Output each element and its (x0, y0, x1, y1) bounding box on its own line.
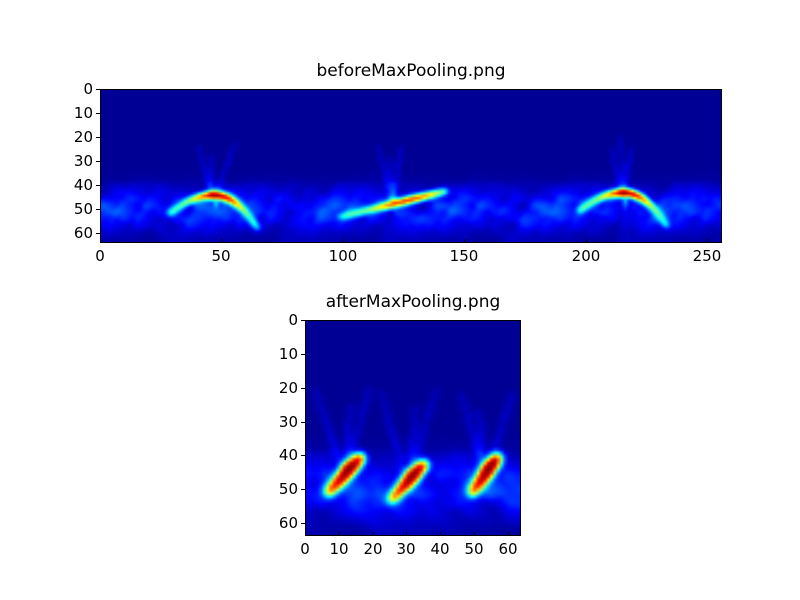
xtick-label-before-5: 250 (687, 249, 727, 264)
ytick-label-after-6: 60 (255, 516, 298, 531)
ytick-label-after-4: 40 (255, 448, 298, 463)
xtick-mark-before-2 (343, 239, 344, 243)
ytick-label-after-2: 20 (255, 381, 298, 396)
xtick-mark-after-2 (373, 532, 374, 536)
ytick-mark-after-0 (301, 320, 305, 321)
xtick-mark-after-4 (440, 532, 441, 536)
chart-title-before: beforeMaxPooling.png (100, 63, 722, 80)
xtick-mark-after-6 (508, 532, 509, 536)
ytick-label-before-4: 40 (50, 178, 93, 193)
xtick-label-before-2: 100 (323, 249, 363, 264)
ytick-mark-after-2 (301, 388, 305, 389)
xtick-label-before-1: 50 (201, 249, 241, 264)
ytick-mark-before-0 (96, 89, 100, 90)
xtick-mark-before-1 (221, 239, 222, 243)
heatmap-axes-after (305, 320, 521, 536)
heatmap-image-after (306, 321, 520, 535)
xtick-label-before-4: 200 (566, 249, 606, 264)
ytick-label-after-1: 10 (255, 347, 298, 362)
xtick-label-before-3: 150 (444, 249, 484, 264)
ytick-mark-before-3 (96, 161, 100, 162)
ytick-mark-before-6 (96, 233, 100, 234)
xtick-label-before-0: 0 (80, 249, 120, 264)
chart-title-after: afterMaxPooling.png (305, 294, 521, 311)
ytick-mark-before-2 (96, 137, 100, 138)
xtick-mark-after-5 (474, 532, 475, 536)
ytick-mark-after-3 (301, 422, 305, 423)
ytick-mark-after-5 (301, 489, 305, 490)
xtick-mark-before-5 (707, 239, 708, 243)
ytick-mark-after-6 (301, 523, 305, 524)
xtick-mark-after-3 (406, 532, 407, 536)
ytick-label-after-5: 50 (255, 482, 298, 497)
ytick-label-before-2: 20 (50, 130, 93, 145)
ytick-label-after-0: 0 (255, 313, 298, 328)
xtick-mark-before-3 (464, 239, 465, 243)
ytick-label-after-3: 30 (255, 415, 298, 430)
ytick-mark-after-4 (301, 455, 305, 456)
ytick-mark-after-1 (301, 354, 305, 355)
ytick-label-before-1: 10 (50, 106, 93, 121)
ytick-mark-before-5 (96, 209, 100, 210)
heatmap-axes-before (100, 89, 722, 243)
ytick-label-before-5: 50 (50, 202, 93, 217)
xtick-label-after-6: 60 (488, 542, 528, 557)
xtick-mark-before-4 (586, 239, 587, 243)
ytick-label-before-3: 30 (50, 154, 93, 169)
ytick-label-before-0: 0 (50, 82, 93, 97)
ytick-mark-before-1 (96, 113, 100, 114)
xtick-mark-before-0 (100, 239, 101, 243)
xtick-mark-after-0 (305, 532, 306, 536)
heatmap-image-before (101, 90, 721, 242)
matplotlib-figure: beforeMaxPooling.png 0 10 20 30 40 50 60… (0, 0, 800, 600)
ytick-mark-before-4 (96, 185, 100, 186)
xtick-mark-after-1 (339, 532, 340, 536)
ytick-label-before-6: 60 (50, 226, 93, 241)
